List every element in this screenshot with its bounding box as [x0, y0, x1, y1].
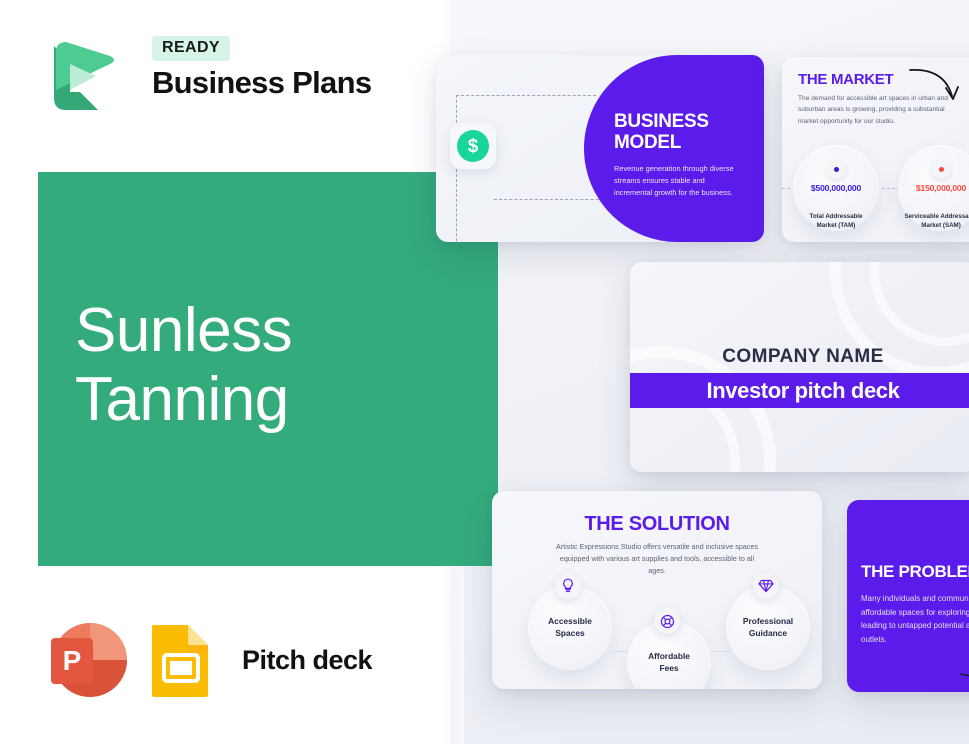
slide-body: Artistic Expressions Studio offers versa… [552, 541, 762, 577]
brand-name: Business Plans [152, 67, 382, 100]
deck-subtitle: Investor pitch deck [707, 378, 900, 404]
play-arrow-logo-icon [40, 38, 116, 118]
page-title: Sunless Tanning [75, 296, 495, 435]
metric-caption: Serviceable Addressable Market (SAM) [889, 212, 969, 231]
connector-line-top [456, 95, 596, 96]
pillar-connector [709, 651, 731, 652]
slide-business-model[interactable]: $ Drop-in Fees Session Workshops Commiss… [436, 55, 764, 242]
dollar-sign-icon: $ [450, 123, 496, 169]
google-slides-icon [150, 623, 212, 697]
diamond-icon [753, 573, 779, 599]
powerpoint-icon: P [42, 620, 130, 700]
promo-cover: Sunless Tanning READY Business Plans $ D… [0, 0, 969, 744]
slide-company-name[interactable]: COMPANY NAME Investor pitch deck [630, 262, 969, 472]
company-name: COMPANY NAME [630, 346, 969, 368]
dollar-symbol: $ [457, 130, 489, 162]
curved-arrow-icon [908, 66, 964, 106]
business-model-panel: BUSINESS MODEL Revenue generation throug… [584, 55, 764, 242]
slide-title: THE PROBLEM [861, 562, 969, 582]
metric-value: $500,000,000 [793, 183, 879, 193]
slide-problem[interactable]: THE PROBLEM Many individuals and communi… [847, 500, 969, 692]
lifebuoy-icon [654, 608, 680, 634]
brand-logo: READY Business Plans [40, 36, 370, 124]
ready-badge: READY [152, 36, 230, 61]
slide-solution[interactable]: THE SOLUTION Artistic Expressions Studio… [492, 491, 822, 689]
slide-body: Many individuals and communities lack ac… [861, 592, 969, 646]
swoosh-line-icon [959, 648, 969, 682]
slide-title: THE MARKET [798, 71, 893, 88]
svg-text:P: P [63, 645, 82, 676]
metric-caption: Total Addressable Market (TAM) [784, 212, 888, 231]
filetype-row: P Pitch deck [42, 620, 372, 700]
slide-title: THE SOLUTION [492, 513, 822, 536]
subtitle-band: Investor pitch deck [630, 373, 969, 408]
brand-text: READY Business Plans [152, 36, 382, 100]
pillar-label: Accessible Spaces [548, 616, 592, 640]
slide-body: Revenue generation through diverse strea… [614, 163, 742, 199]
lightbulb-icon [555, 573, 581, 599]
metric-dot [826, 159, 846, 179]
filetype-label: Pitch deck [242, 645, 372, 676]
slide-title: BUSINESS MODEL [614, 111, 709, 154]
pillar-label: Affordable Fees [648, 651, 690, 675]
metric-value: $150,000,000 [898, 183, 969, 193]
metric-dot [931, 159, 951, 179]
pillar-label: Professional Guidance [743, 616, 793, 640]
